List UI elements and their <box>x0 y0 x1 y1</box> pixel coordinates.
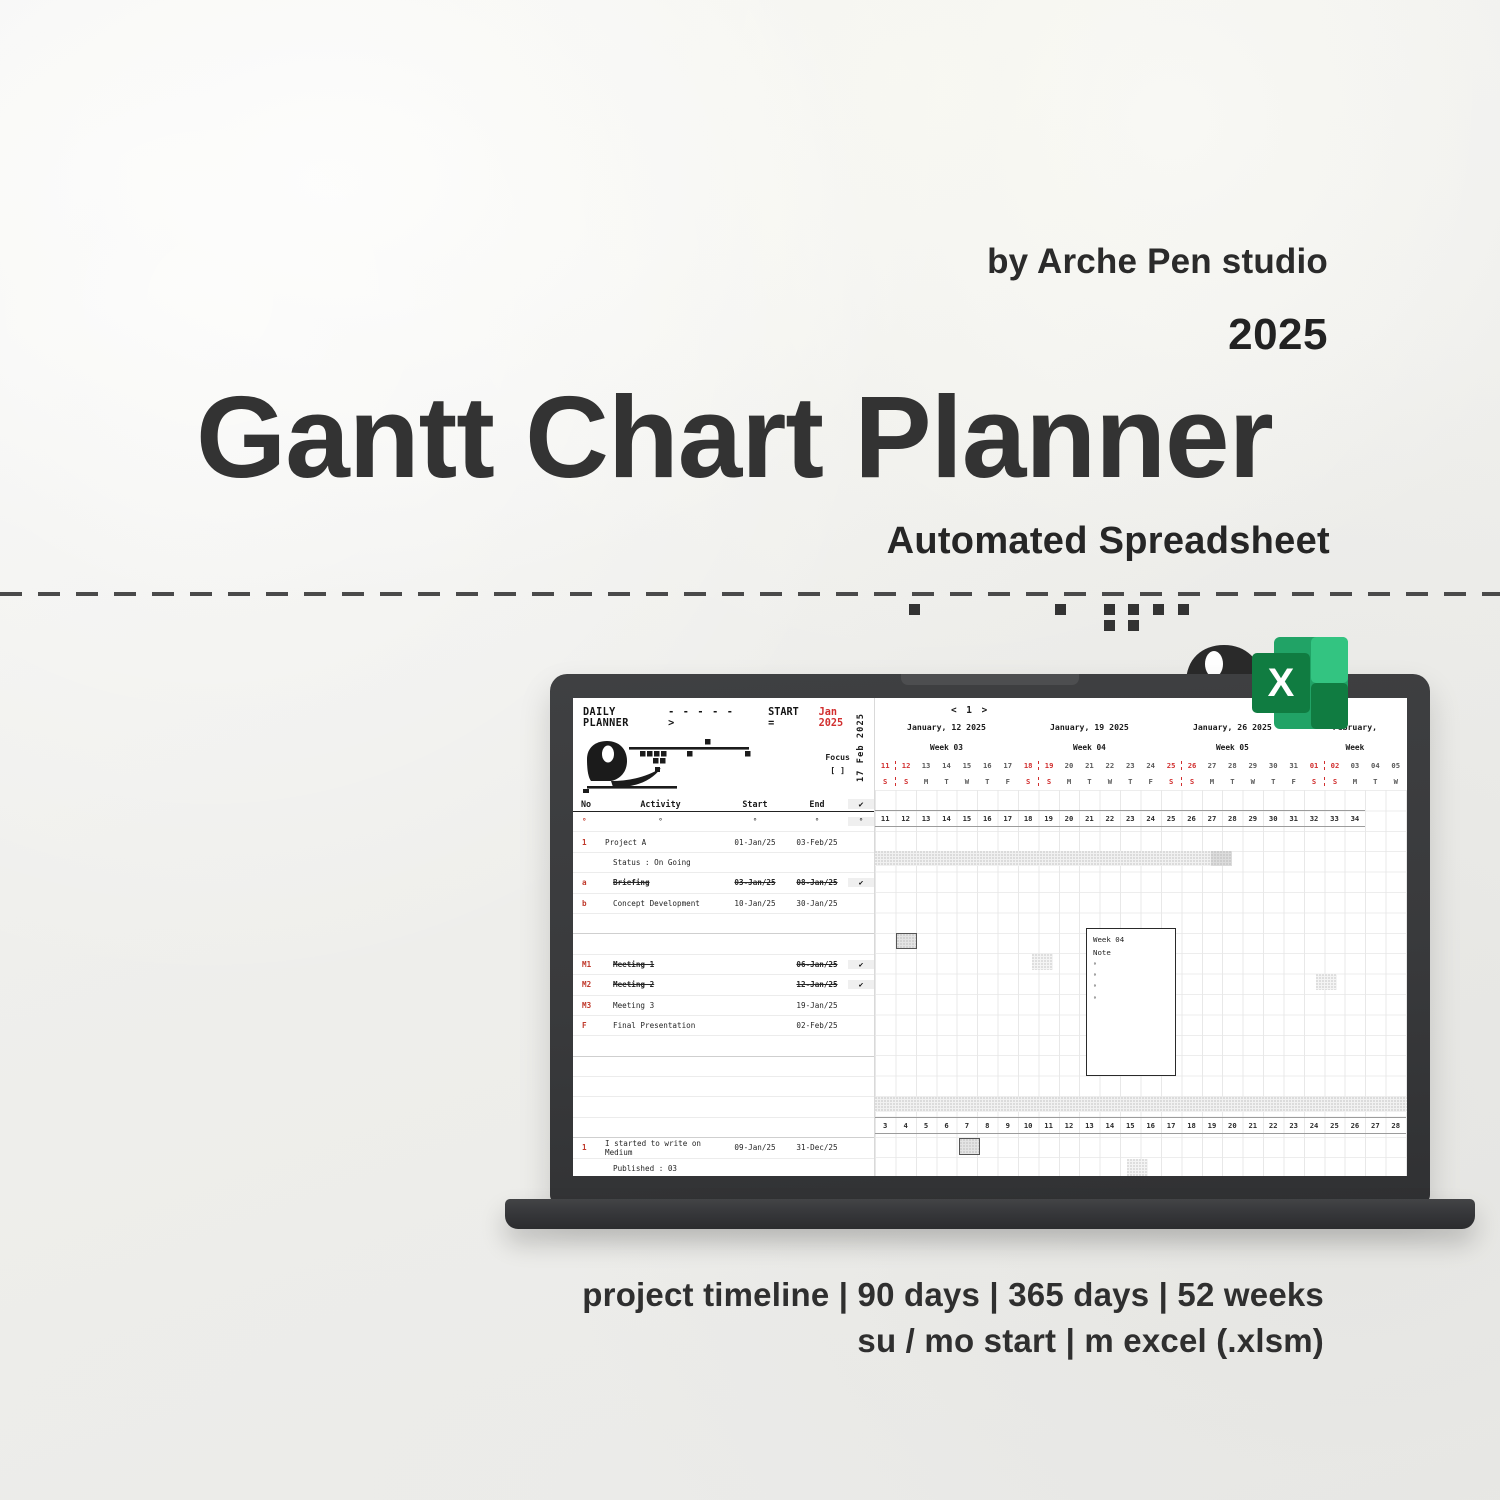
caption-line-2: su / mo start | m excel (.xlsm) <box>582 1318 1324 1364</box>
degree-check: ° <box>848 817 874 826</box>
gantt-daycount-cell: 19 <box>1038 814 1058 823</box>
task-list-pane: 17 Feb 2025 DAILY PLANNER - - - - - > ST… <box>573 698 875 1176</box>
page-subtitle: Automated Spreadsheet <box>887 520 1330 563</box>
gantt-week-label: Week 05 <box>1161 743 1304 752</box>
gantt-daycount-cell: 13 <box>1079 1121 1099 1130</box>
gantt-day-letter: F <box>998 777 1018 786</box>
gantt-daycount-cell: 22 <box>1100 814 1120 823</box>
gantt-day-letter: M <box>1059 777 1079 786</box>
pixel-dot-icon <box>1055 604 1066 615</box>
gantt-daycount-cell: 17 <box>998 814 1018 823</box>
pixel-dot-icon <box>1153 604 1164 615</box>
headline-block: by Arche Pen studio 2025 <box>987 244 1328 357</box>
row-check[interactable]: ✔ <box>848 878 874 887</box>
gantt-day-number: 04 <box>1365 761 1385 770</box>
row-activity[interactable]: Meeting 2 <box>597 980 724 989</box>
spreadsheet: 17 Feb 2025 DAILY PLANNER - - - - - > ST… <box>573 698 1407 1176</box>
gantt-day-number: 16 <box>977 761 997 770</box>
row-activity[interactable]: Project A <box>597 838 724 847</box>
gantt-day-number: 22 <box>1100 761 1120 770</box>
gantt-daycount-cell: 22 <box>1263 1121 1283 1130</box>
gantt-day-number: 28 <box>1222 761 1242 770</box>
gantt-day-letters: SSMTWTFSSMTWTFSSMTWTFSSMTW <box>875 773 1407 789</box>
table-row[interactable] <box>573 1036 874 1056</box>
sheet-header-row: DAILY PLANNER - - - - - > START = Jan 20… <box>573 698 874 731</box>
gantt-daycount-cell: 29 <box>1243 814 1263 823</box>
row-no: b <box>573 899 597 908</box>
gantt-day-letter: S <box>1038 777 1058 786</box>
column-header-end: End <box>786 799 848 809</box>
table-row[interactable] <box>573 914 874 934</box>
laptop-base <box>505 1199 1475 1229</box>
gantt-day-number: 31 <box>1283 761 1303 770</box>
logo-zone: Focus [ ] <box>573 731 874 793</box>
row-start[interactable]: 03-Jan/25 <box>724 878 786 887</box>
gantt-month-label: January, 19 2025 <box>1018 722 1161 732</box>
gantt-daycount-cell: 34 <box>1345 814 1365 823</box>
row-no: F <box>573 1021 597 1030</box>
year-text: 2025 <box>987 313 1328 357</box>
degree-start: ° <box>724 817 786 826</box>
gantt-day-number: 02 <box>1324 761 1344 770</box>
note-label: Note <box>1093 947 1169 960</box>
gantt-daycount-cell: 16 <box>977 814 997 823</box>
gantt-daycount-cell: 18 <box>1181 1121 1201 1130</box>
gantt-milestone-meeting-3[interactable] <box>1032 954 1053 970</box>
svg-text:X: X <box>1268 661 1295 705</box>
gantt-month-label: January, 12 2025 <box>875 722 1018 732</box>
gantt-daycount-cell: 14 <box>1100 1121 1120 1130</box>
row-check[interactable]: ✔ <box>848 960 874 969</box>
gantt-grid: 1112131415161718192021222324252627282930… <box>875 790 1407 1176</box>
column-header-check: ✔ <box>848 799 874 809</box>
column-header-start: Start <box>724 799 786 809</box>
gantt-day-letter: S <box>1324 777 1344 786</box>
degree-no: ° <box>573 817 597 826</box>
row-start[interactable]: 10-Jan/25 <box>724 899 786 908</box>
row-no: 1 <box>573 838 597 847</box>
table-row[interactable] <box>573 1077 874 1097</box>
column-header-activity: Activity <box>597 799 724 809</box>
gantt-daycount-cell: 33 <box>1324 814 1344 823</box>
gantt-day-letter: W <box>1386 777 1406 786</box>
gantt-daycount-cell: 15 <box>957 814 977 823</box>
gantt-day-number: 03 <box>1345 761 1365 770</box>
gantt-daycount-cell: 7 <box>957 1121 977 1130</box>
gantt-day-number: 25 <box>1161 761 1181 770</box>
row-start[interactable]: 01-Jan/25 <box>724 838 786 847</box>
gantt-daycount-cell: 27 <box>1365 1121 1385 1130</box>
pixel-dot-icon <box>909 604 920 615</box>
table-row: ° ° ° ° ° <box>573 812 874 832</box>
row-end[interactable]: 31-Dec/25 <box>786 1143 848 1152</box>
gantt-daycount-cell: 12 <box>1059 1121 1079 1130</box>
gantt-bar-medium-writing[interactable] <box>875 1097 1407 1112</box>
gantt-week-label: Week 04 <box>1018 743 1161 752</box>
pixel-dot-icon <box>1104 604 1115 615</box>
laptop-mockup: 17 Feb 2025 DAILY PLANNER - - - - - > ST… <box>521 674 1459 1204</box>
table-row[interactable] <box>573 934 874 954</box>
gantt-day-letter: W <box>957 777 977 786</box>
row-end[interactable]: 19-Jan/25 <box>786 1001 848 1010</box>
poster-canvas: by Arche Pen studio 2025 Gantt Chart Pla… <box>0 0 1500 1500</box>
gantt-day-letter: T <box>1120 777 1140 786</box>
gantt-daycount-cell: 26 <box>1345 1121 1365 1130</box>
snail-logo-icon <box>581 735 797 793</box>
gantt-daycount-cell: 5 <box>916 1121 936 1130</box>
gantt-day-number: 15 <box>957 761 977 770</box>
gantt-daycount-cell: 14 <box>936 814 956 823</box>
gantt-milestone-meeting-2[interactable] <box>896 933 917 949</box>
gantt-daycount-cell: 28 <box>1386 1121 1406 1130</box>
focus-label: Focus <box>825 751 850 764</box>
table-row[interactable]: bConcept Development10-Jan/2530-Jan/25 <box>573 894 874 914</box>
row-activity[interactable]: Concept Development <box>597 899 724 908</box>
gantt-day-number: 30 <box>1263 761 1283 770</box>
gantt-day-number: 13 <box>916 761 936 770</box>
gantt-day-letter: S <box>1181 777 1201 786</box>
row-activity[interactable]: Meeting 1 <box>597 960 724 969</box>
row-end[interactable]: 06-Jan/25 <box>786 960 848 969</box>
gantt-daycount-cell: 21 <box>1079 814 1099 823</box>
gantt-daycount-cell: 9 <box>998 1121 1018 1130</box>
gantt-day-letter: W <box>1243 777 1263 786</box>
table-row[interactable] <box>573 1057 874 1077</box>
gantt-daycount-bottom: 3456789101112131415161718192021222324252… <box>875 1117 1406 1134</box>
column-header-no: No <box>573 799 597 809</box>
task-table-header: No Activity Start End ✔ <box>573 793 874 812</box>
row-activity[interactable]: Published : 03 <box>597 1164 724 1173</box>
gantt-week-label: Week <box>1304 743 1406 752</box>
row-end[interactable]: 02-Feb/25 <box>786 1021 848 1030</box>
table-row[interactable] <box>573 1097 874 1117</box>
gantt-daycount-cell: 10 <box>1018 1121 1038 1130</box>
gantt-milestone-article-02[interactable] <box>1127 1159 1148 1176</box>
page-title: Gantt Chart Planner <box>196 378 1330 496</box>
gantt-day-number: 27 <box>1202 761 1222 770</box>
gantt-day-number: 05 <box>1386 761 1406 770</box>
table-row[interactable]: 1Project A01-Jan/2503-Feb/25 <box>573 832 874 852</box>
row-no: 1 <box>573 1143 597 1152</box>
gantt-day-letter: M <box>916 777 936 786</box>
table-row[interactable]: 1I started to write on Medium09-Jan/2531… <box>573 1138 874 1158</box>
note-bullet[interactable]: ° <box>1093 982 1169 993</box>
pixel-dot-icon <box>1104 620 1115 631</box>
table-row[interactable]: FFinal Presentation02-Feb/25 <box>573 1016 874 1036</box>
gantt-daycount-cell: 25 <box>1324 1121 1344 1130</box>
gantt-daycount-cell: 21 <box>1243 1121 1263 1130</box>
note-bullet[interactable]: ° <box>1093 960 1169 971</box>
gantt-day-number: 14 <box>936 761 956 770</box>
table-row[interactable]: Status : On Going <box>573 853 874 873</box>
row-end[interactable]: 08-Jan/25 <box>786 878 848 887</box>
table-row[interactable]: Published : 03 <box>573 1159 874 1176</box>
row-activity[interactable]: Status : On Going <box>597 858 724 867</box>
gantt-daycount-cell: 12 <box>895 814 915 823</box>
note-bullet[interactable]: ° <box>1093 971 1169 982</box>
gantt-daycount-cell: 27 <box>1202 814 1222 823</box>
gantt-day-letter: F <box>1140 777 1160 786</box>
gantt-day-letter: S <box>895 777 915 786</box>
table-row[interactable]: M1Meeting 106-Jan/25✔ <box>573 955 874 975</box>
gantt-day-letter: T <box>1365 777 1385 786</box>
gantt-day-letter: W <box>1100 777 1120 786</box>
gantt-day-number: 20 <box>1059 761 1079 770</box>
gantt-day-letter: M <box>1202 777 1222 786</box>
gantt-daycount-cell: 24 <box>1140 814 1160 823</box>
row-activity[interactable]: Briefing <box>597 878 724 887</box>
gantt-daycount-cell: 26 <box>1181 814 1201 823</box>
row-no: M2 <box>573 980 597 989</box>
gantt-day-letter: T <box>977 777 997 786</box>
gantt-daycount-cell: 6 <box>936 1121 956 1130</box>
byline-text: by Arche Pen studio <box>987 244 1328 279</box>
caption-block: project timeline | 90 days | 365 days | … <box>582 1272 1324 1363</box>
row-end[interactable]: 30-Jan/25 <box>786 899 848 908</box>
gantt-day-number: 29 <box>1243 761 1263 770</box>
gantt-pane: < 1 > January, 12 2025January, 19 2025Ja… <box>875 698 1407 1176</box>
gantt-day-number: 17 <box>998 761 1018 770</box>
row-end[interactable]: 12-Jan/25 <box>786 980 848 989</box>
caption-line-1: project timeline | 90 days | 365 days | … <box>582 1272 1324 1318</box>
table-row[interactable]: M3Meeting 319-Jan/25 <box>573 996 874 1016</box>
arrow-decoration-icon: - - - - - > <box>668 707 746 729</box>
table-row[interactable] <box>573 1118 874 1138</box>
gantt-day-number: 18 <box>1018 761 1038 770</box>
gantt-day-number: 26 <box>1181 761 1201 770</box>
row-start[interactable]: 09-Jan/25 <box>724 1143 786 1152</box>
pixel-dot-icon <box>1178 604 1189 615</box>
gantt-day-letter: S <box>1018 777 1038 786</box>
gantt-day-numbers: 1112131415161718192021222324252627282930… <box>875 757 1407 773</box>
gantt-milestone-final-presentation[interactable] <box>1316 974 1337 990</box>
pixel-dot-icon <box>1128 604 1139 615</box>
gantt-daycount-cell: 30 <box>1263 814 1283 823</box>
start-label: START = <box>768 707 810 729</box>
microsoft-excel-icon: X <box>1246 629 1354 737</box>
gantt-daycount-top: 1112131415161718192021222324252627282930… <box>875 810 1365 827</box>
laptop-screen: 17 Feb 2025 DAILY PLANNER - - - - - > ST… <box>573 698 1407 1176</box>
gantt-daycount-cell: 23 <box>1283 1121 1303 1130</box>
gantt-day-number: 11 <box>875 761 895 770</box>
row-check[interactable]: ✔ <box>848 980 874 989</box>
gantt-daycount-cell: 16 <box>1140 1121 1160 1130</box>
gantt-daycount-cell: 24 <box>1304 1121 1324 1130</box>
laptop-camera-notch <box>901 674 1079 685</box>
row-end[interactable]: 03-Feb/25 <box>786 838 848 847</box>
gantt-day-letter: T <box>1222 777 1242 786</box>
row-activity[interactable]: Final Presentation <box>597 1021 724 1030</box>
row-no: a <box>573 878 597 887</box>
gantt-day-letter: F <box>1283 777 1303 786</box>
focus-checkbox[interactable]: [ ] <box>825 764 850 777</box>
gantt-daycount-cell: 20 <box>1222 1121 1242 1130</box>
task-rows-container: 1Project A01-Jan/2503-Feb/25Status : On … <box>573 832 874 1176</box>
table-row[interactable]: aBriefing03-Jan/2508-Jan/25✔ <box>573 873 874 893</box>
gantt-daycount-cell: 15 <box>1120 1121 1140 1130</box>
gantt-daycount-cell: 3 <box>875 1121 895 1130</box>
gantt-daycount-cell: 11 <box>1038 1121 1058 1130</box>
gantt-day-number: 12 <box>895 761 915 770</box>
gantt-daycount-cell: 20 <box>1059 814 1079 823</box>
note-title: Week 04 <box>1093 934 1169 947</box>
gantt-day-letter: T <box>936 777 956 786</box>
degree-act: ° <box>597 817 724 826</box>
degree-end: ° <box>786 817 848 826</box>
gantt-week-label: Week 03 <box>875 743 1018 752</box>
gantt-day-number: 21 <box>1079 761 1099 770</box>
gantt-daycount-cell: 18 <box>1018 814 1038 823</box>
gantt-bar-concept-development[interactable] <box>875 851 1232 866</box>
gantt-daycount-cell: 11 <box>875 814 895 823</box>
gantt-week-header: Week 03Week 04Week 05Week <box>875 737 1407 757</box>
gantt-daycount-cell: 31 <box>1283 814 1303 823</box>
gantt-day-number: 19 <box>1038 761 1058 770</box>
row-activity[interactable]: I started to write on Medium <box>597 1139 724 1157</box>
page-nav-label[interactable]: < 1 > <box>951 705 989 716</box>
row-no: M1 <box>573 960 597 969</box>
gantt-milestone-article-01[interactable] <box>959 1138 980 1155</box>
dashed-divider <box>0 592 1500 596</box>
week-note-box[interactable]: Week 04 Note ° ° ° ° <box>1086 928 1176 1076</box>
note-bullet[interactable]: ° <box>1093 994 1169 1005</box>
focus-box: Focus [ ] <box>825 751 850 776</box>
gantt-daycount-cell: 4 <box>895 1121 915 1130</box>
gantt-day-letter: M <box>1345 777 1365 786</box>
gantt-day-number: 24 <box>1140 761 1160 770</box>
gantt-daycount-cell: 19 <box>1202 1121 1222 1130</box>
gantt-day-number: 23 <box>1120 761 1140 770</box>
gantt-daycount-cell: 32 <box>1304 814 1324 823</box>
gantt-day-letter: T <box>1263 777 1283 786</box>
gantt-day-letter: S <box>1161 777 1181 786</box>
gantt-day-letter: T <box>1079 777 1099 786</box>
gantt-daycount-cell: 13 <box>916 814 936 823</box>
gantt-daycount-cell: 23 <box>1120 814 1140 823</box>
row-activity[interactable]: Meeting 3 <box>597 1001 724 1010</box>
gantt-day-letter: S <box>1304 777 1324 786</box>
row-no: M3 <box>573 1001 597 1010</box>
gantt-day-letter: S <box>875 777 895 786</box>
gantt-daycount-cell: 17 <box>1161 1121 1181 1130</box>
table-row[interactable]: M2Meeting 212-Jan/25✔ <box>573 975 874 995</box>
gantt-daycount-cell: 8 <box>977 1121 997 1130</box>
laptop-lid: 17 Feb 2025 DAILY PLANNER - - - - - > ST… <box>550 674 1430 1204</box>
gantt-daycount-cell: 28 <box>1222 814 1242 823</box>
sheet-title: DAILY PLANNER <box>583 707 665 729</box>
gantt-marker-concept-end[interactable] <box>1211 851 1232 866</box>
gantt-day-number: 01 <box>1304 761 1324 770</box>
gantt-daycount-cell: 25 <box>1161 814 1181 823</box>
